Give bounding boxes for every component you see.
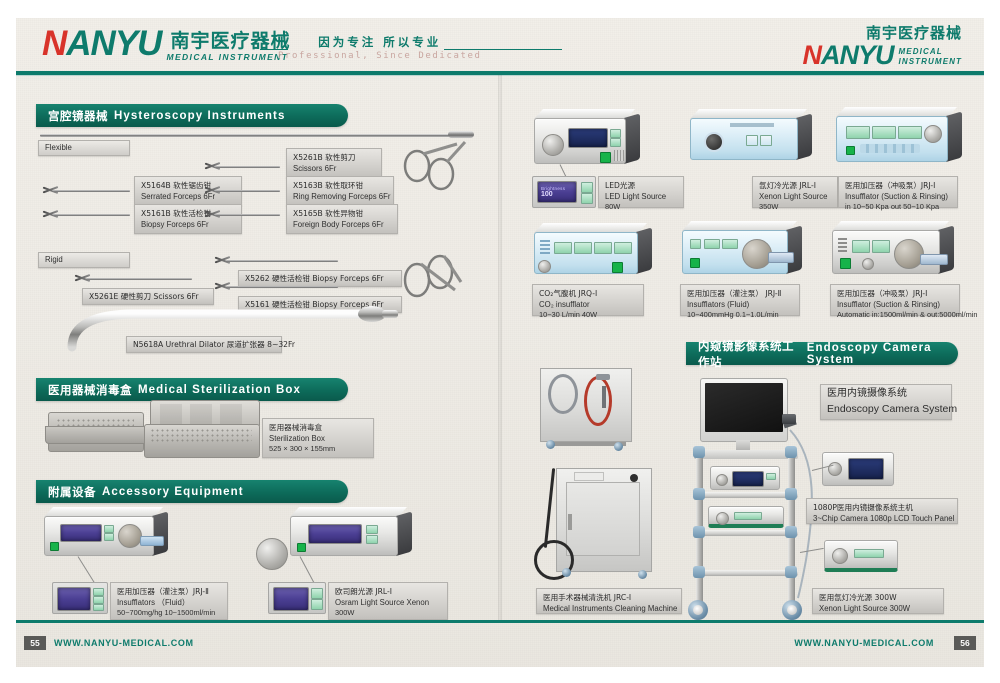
- device-fluid-insufflator-2: [682, 230, 788, 274]
- section-title-en: Accessory Equipment: [102, 486, 244, 498]
- label-en: Scissors 6Fr: [293, 163, 375, 174]
- hysteroscope-handle: [448, 131, 474, 138]
- label-cn: 医用加压器（冲吸泵）JRJ-Ⅰ: [837, 288, 953, 299]
- tag-flexible-label: Flexible: [45, 142, 72, 153]
- camera-head: [782, 414, 796, 424]
- caster: [638, 570, 647, 579]
- brand-subtitle-right-2: INSTRUMENT: [899, 57, 962, 67]
- device-camera-host-thumbnail: [822, 452, 894, 486]
- footer-divider: [16, 620, 984, 623]
- lcd-thumbnail-osram: [268, 582, 326, 614]
- label-camera-system: 医用内镜摄像系统 Endoscopy Camera System: [820, 384, 952, 420]
- label-rigid-scissors-x5261e: X5261E 硬性剪刀 Scissors 6Fr: [82, 288, 214, 305]
- brand-wordmark-right: NANYU: [803, 42, 894, 69]
- page-frame-left: [0, 0, 16, 683]
- sterilization-box-tray: [144, 424, 260, 458]
- section-title-en: Hysteroscopy Instruments: [114, 110, 285, 122]
- slogan-en: Professional, Since Dedicated: [278, 51, 482, 61]
- label-en: LED Light Source: [605, 191, 677, 202]
- device-lcd: [60, 524, 102, 542]
- section-banner-sterilization: 医用器械消毒盒 Medical Sterilization Box: [36, 378, 348, 401]
- brand-subtitle: MEDICAL INSTRUMENT: [166, 53, 290, 62]
- instrument-shaft: [214, 166, 280, 168]
- label-en: Serrated Forceps 6Fr: [141, 191, 235, 202]
- footer-url-left: WWW.NANYU-MEDICAL.COM: [54, 636, 194, 650]
- lcd-value: 100: [541, 191, 576, 198]
- label-cn: 医用器械消毒盒: [269, 422, 367, 433]
- brand-subtitle-right-1: MEDICAL: [899, 47, 962, 57]
- tag-rigid-label: Rigid: [45, 254, 63, 265]
- device-camera-host: [710, 466, 780, 490]
- label-sterilization-box: 医用器械消毒盒 Sterilization Box 525 × 300 × 15…: [262, 418, 374, 458]
- instrument-shaft: [52, 190, 130, 192]
- page-number-right: 56: [954, 636, 976, 650]
- label-en: Osram Light Source Xenon: [335, 597, 441, 608]
- instrument-shaft: [86, 278, 192, 280]
- system-monitor: [700, 378, 788, 442]
- instrument-shaft: [214, 190, 280, 192]
- caster: [562, 568, 571, 577]
- label-biopsy-forceps-flex: X5161B 软性活检钳 Biopsy Forceps 6Fr: [134, 204, 242, 234]
- tag-flexible: Flexible: [38, 140, 130, 156]
- device-xenon-light-source: [690, 118, 798, 160]
- label-en: Insufflators (Fluid): [687, 299, 793, 310]
- label-ring-removing-forceps: X5163B 软性取环钳 Ring Removing Forceps 6Fr: [286, 176, 394, 206]
- page-header: NANYU 南宇医疗器械 MEDICAL INSTRUMENT 因为专注 所以专…: [16, 18, 984, 71]
- section-banner-camera-system: 内窥镜影像系统工作站 Endoscopy Camera System: [686, 342, 958, 365]
- label-camera-host: 1080P医用内镜摄像系统主机 3~Chip Camera 1080p LCD …: [806, 498, 958, 524]
- label-cn: X5261B 软性剪刀: [293, 152, 375, 163]
- lcd-thumbnail-led: Brightness 100: [532, 176, 596, 208]
- label-en: Ring Removing Forceps 6Fr: [293, 191, 387, 202]
- instrument-shaft: [214, 214, 280, 216]
- label-spec: 350W: [759, 202, 831, 213]
- label-cn: 医用加压器（灌注泵）JRJ-Ⅱ: [117, 586, 221, 597]
- rigid-forceps-handle-illustration: [395, 140, 495, 300]
- label-scissors-6fr: X5261B 软性剪刀 Scissors 6Fr: [286, 148, 382, 178]
- label-cn: CO₂气腹机 JRQ-Ⅰ: [539, 288, 637, 299]
- section-banner-accessory: 附属设备 Accessory Equipment: [36, 480, 348, 503]
- label-text: N5618A Urethral Dilator 尿道扩张器 8~32Fr: [133, 339, 295, 350]
- label-spec: 300W: [335, 608, 441, 619]
- hysteroscope-shaft: [40, 134, 450, 137]
- device-insufflator-suction: [836, 116, 948, 162]
- sterilization-box-closed: [48, 412, 144, 452]
- label-en: Sterilization Box: [269, 433, 367, 444]
- label-spec: 10~400mmHg 0.1~1.0L/min: [687, 310, 793, 321]
- lcd-thumbnail-fluid: [52, 582, 108, 614]
- brand-wordmark: NANYU: [42, 26, 161, 61]
- instrument-shaft: [226, 286, 338, 288]
- device-lcd: [308, 524, 362, 544]
- label-size: 525 × 300 × 155mm: [269, 444, 367, 455]
- label-en: Insufflator (Suction & Rinsing): [837, 299, 953, 310]
- label-foreign-body-forceps: X5165B 软性异物钳 Foreign Body Forceps 6Fr: [286, 204, 398, 234]
- device-fluid-insufflator: [44, 516, 154, 556]
- label-spec: Automatic in:1500ml/min & out:5000ml/min: [837, 310, 953, 321]
- device-co2-insufflator: [534, 232, 638, 274]
- label-en: Biopsy Forceps 6Fr: [141, 219, 235, 230]
- tag-rigid: Rigid: [38, 252, 130, 268]
- section-title-cn: 附属设备: [48, 484, 96, 500]
- page-frame-top: [0, 0, 1000, 18]
- label-en: Xenon Light Source: [759, 191, 831, 202]
- label-cn: 医用加压器（灌注泵） JRJ-Ⅱ: [687, 288, 793, 299]
- footer-url-right: WWW.NANYU-MEDICAL.COM: [794, 636, 934, 650]
- light-source-connector: [256, 538, 288, 570]
- trolley-caster-left: [688, 600, 708, 620]
- label-en: Foreign Body Forceps 6Fr: [293, 219, 391, 230]
- label-en: CO₂ insufflator: [539, 299, 637, 310]
- brand-name-cn: 南宇医疗器械: [170, 32, 290, 51]
- label-spec: 10~30 L/min 40W: [539, 310, 637, 321]
- slogan-cn: 因为专注 所以专业: [278, 34, 482, 50]
- label-en: Endoscopy Camera System: [827, 402, 945, 417]
- label-urethral-dilator: N5618A Urethral Dilator 尿道扩张器 8~32Fr: [126, 336, 282, 353]
- page-frame-right: [984, 0, 1000, 683]
- label-insufflator-suction-rinsing: 医用加压器（冲吸泵）JRJ-Ⅰ Insufflator (Suction & R…: [838, 176, 958, 208]
- brand-logo-left: NANYU 南宇医疗器械 MEDICAL INSTRUMENT: [42, 26, 290, 61]
- section-title-cn: 宫腔镜器械: [48, 108, 108, 124]
- label-fluid-insufflator-2: 医用加压器（灌注泵） JRJ-Ⅱ Insufflators (Fluid) 10…: [680, 284, 800, 316]
- instrument-shaft: [52, 214, 130, 216]
- label-en: Insufflator (Suction & Rinsing): [845, 191, 951, 202]
- label-fluid-insufflator: 医用加压器（灌注泵）JRJ-Ⅱ Insufflators （Fluid） 50~…: [110, 582, 228, 620]
- label-xenon-300w: 医用氙灯冷光源 300W Xenon Light Source 300W: [812, 588, 944, 614]
- trolley-joint: [693, 446, 705, 458]
- instrument-shaft: [226, 260, 338, 262]
- label-text: X5261E 硬性剪刀 Scissors 6Fr: [89, 291, 198, 302]
- label-cn: 医用内镜摄像系统: [827, 387, 945, 402]
- label-cn: 医用手术器械清洗机 JRC-Ⅰ: [543, 592, 675, 603]
- label-rigid-biopsy-x5262: X5262 硬性活检钳 Biopsy Forceps 6Fr: [238, 270, 402, 287]
- label-en: Insufflators （Fluid）: [117, 597, 221, 608]
- cleaning-machine-hoses: [540, 368, 632, 442]
- label-en: 3~Chip Camera 1080p LCD Touch Panel: [813, 513, 951, 524]
- page-number-left: 55: [24, 636, 46, 650]
- slogan-rule-right: [444, 49, 562, 50]
- caster: [546, 440, 555, 449]
- device-osram-light-source: [290, 516, 398, 556]
- section-title-en: Medical Sterilization Box: [138, 384, 301, 396]
- label-co2-insufflator: CO₂气腹机 JRQ-Ⅰ CO₂ insufflator 10~30 L/min…: [532, 284, 644, 316]
- label-spec: in 10~50 Kpa out 50~10 Kpa: [845, 202, 951, 213]
- label-cn: 医用加压器（冲吸泵）JRJ-Ⅰ: [845, 180, 951, 191]
- brand-logo-right: 南宇医疗器械 NANYU MEDICAL INSTRUMENT: [803, 25, 962, 69]
- label-text: X5262 硬性活检钳 Biopsy Forceps 6Fr: [245, 273, 383, 284]
- label-osram-light-source: 欧司朗光源 JRL-Ⅰ Osram Light Source Xenon 300…: [328, 582, 448, 620]
- label-cleaning-machine: 医用手术器械清洗机 JRC-Ⅰ Medical Instruments Clea…: [536, 588, 682, 614]
- page-gutter: [498, 75, 502, 620]
- device-led-light-source: [534, 118, 626, 164]
- trolley-joint: [693, 566, 705, 578]
- label-led-light-source: LED光源 LED Light Source 80W: [598, 176, 684, 208]
- catalog-spread: NANYU 南宇医疗器械 MEDICAL INSTRUMENT 因为专注 所以专…: [0, 0, 1000, 683]
- label-cn: LED光源: [605, 180, 677, 191]
- label-en: Xenon Light Source 300W: [819, 603, 937, 614]
- device-trolley-light-source: [708, 506, 784, 528]
- label-cn: 氙灯冷光源 JRL-Ⅰ: [759, 180, 831, 191]
- slogan-block: 因为专注 所以专业 Professional, Since Dedicated: [278, 34, 482, 61]
- caster: [614, 442, 623, 451]
- label-xenon-light-source: 氙灯冷光源 JRL-Ⅰ Xenon Light Source 350W: [752, 176, 838, 208]
- device-lcd: [568, 128, 608, 148]
- section-title-cn: 内窥镜影像系统工作站: [698, 338, 801, 370]
- monitor-stand: [736, 440, 750, 450]
- section-title-cn: 医用器械消毒盒: [48, 382, 132, 398]
- device-suction-rinsing-auto: [832, 230, 940, 274]
- label-cn: X5163B 软性取环钳: [293, 180, 387, 191]
- label-en: Medical Instruments Cleaning Machine: [543, 603, 675, 614]
- device-xenon-thumbnail: [824, 540, 898, 572]
- label-spec: 80W: [605, 202, 677, 213]
- trolley-joint: [693, 488, 705, 500]
- label-cn: 医用氙灯冷光源 300W: [819, 592, 937, 603]
- page-frame-bottom: [0, 667, 1000, 683]
- machine-hose-line: [544, 468, 555, 548]
- trolley-joint: [693, 526, 705, 538]
- label-cn: X5165B 软性异物钳: [293, 208, 391, 219]
- label-cn: 1080P医用内镜摄像系统主机: [813, 502, 951, 513]
- section-title-en: Endoscopy Camera System: [807, 342, 958, 366]
- section-banner-hysteroscopy: 宫腔镜器械 Hysteroscopy Instruments: [36, 104, 348, 127]
- label-cn: 欧司朗光源 JRL-Ⅰ: [335, 586, 441, 597]
- trolley-caster-right: [782, 600, 802, 620]
- label-suction-rinsing-auto: 医用加压器（冲吸泵）JRJ-Ⅰ Insufflator (Suction & R…: [830, 284, 960, 316]
- label-spec: 50~700mg/hg 10~1500ml/min: [117, 608, 221, 619]
